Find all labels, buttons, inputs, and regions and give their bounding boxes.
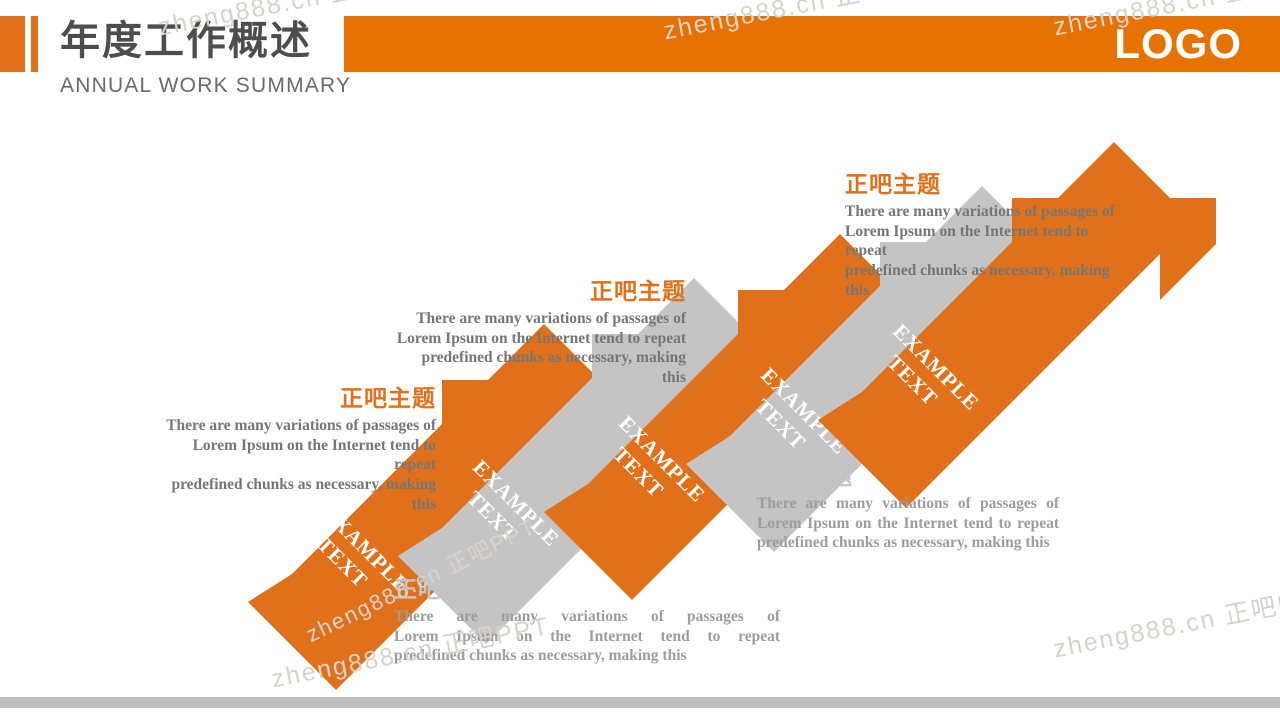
text-block-2-line1: There are many variations of passages of <box>394 607 780 627</box>
text-block-4-heading: 正吧主题 <box>757 462 1059 491</box>
text-block-5-line1: There are many variations of passages of <box>845 202 1131 222</box>
text-block-4: 正吧主题 There are many variations of passag… <box>757 462 1059 553</box>
text-block-4-line1: There are many variations of passages of <box>757 494 1059 514</box>
text-block-1-line2: Lorem Ipsum on the Internet tend to repe… <box>148 436 436 476</box>
text-block-3-line3: predefined chunks as necessary, making t… <box>396 348 686 388</box>
text-block-5: 正吧主题 There are many variations of passag… <box>845 170 1131 301</box>
text-block-1-heading: 正吧主题 <box>148 384 436 413</box>
text-block-2-line3: predefined chunks as necessary, making t… <box>394 646 780 666</box>
text-block-5-line2: Lorem Ipsum on the Internet tend to repe… <box>845 222 1131 262</box>
text-block-5-heading: 正吧主题 <box>845 170 1131 199</box>
text-block-1-line1: There are many variations of passages of <box>148 416 436 436</box>
text-block-4-line3: predefined chunks as necessary, making t… <box>757 533 1059 553</box>
text-block-4-line2: Lorem Ipsum on the Internet tend to repe… <box>757 514 1059 534</box>
text-block-2-heading: 正吧主题 <box>394 575 780 604</box>
text-block-1-line3: predefined chunks as necessary, making t… <box>148 475 436 515</box>
text-block-2: 正吧主题 There are many variations of passag… <box>394 575 780 666</box>
text-block-3-line2: Lorem Ipsum on the Internet tend to repe… <box>396 329 686 349</box>
text-block-3: 正吧主题 There are many variations of passag… <box>396 277 686 388</box>
text-block-3-heading: 正吧主题 <box>396 277 686 306</box>
text-block-1: 正吧主题 There are many variations of passag… <box>148 384 436 515</box>
footer-gray-bar <box>0 697 1280 708</box>
text-block-3-line1: There are many variations of passages of <box>396 309 686 329</box>
text-block-2-line2: Lorem Ipsum on the Internet tend to repe… <box>394 627 780 647</box>
text-block-5-line3: predefined chunks as necessary, making t… <box>845 261 1131 301</box>
